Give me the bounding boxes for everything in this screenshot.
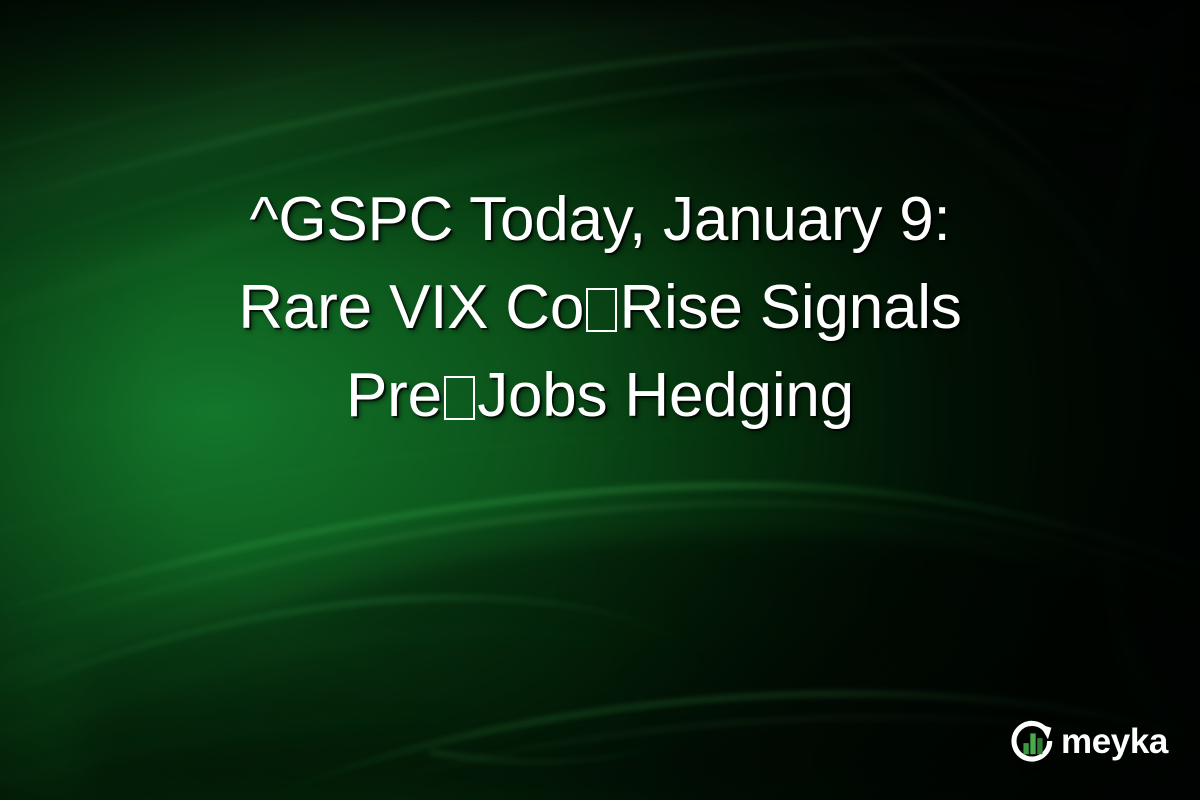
headline-line-3-after: Jobs Hedging [477, 361, 854, 430]
headline-line-2-before: Rare VIX Co [238, 273, 584, 342]
meyka-wordmark: meyka [1061, 724, 1168, 759]
headline-line-2-after: Rise Signals [619, 273, 961, 342]
headline-line-3-before: Pre [346, 361, 442, 430]
missing-glyph-box-icon [586, 288, 617, 331]
headline-block: ^GSPC Today, January 9: Rare VIX CoRise … [0, 176, 1200, 440]
headline-line-3: PreJobs Hedging [58, 352, 1142, 440]
headline-line-2: Rare VIX CoRise Signals [58, 264, 1142, 352]
share-card-canvas: ^GSPC Today, January 9: Rare VIX CoRise … [0, 0, 1200, 800]
headline-line-1-text: ^GSPC Today, January 9: [249, 185, 950, 254]
meyka-growth-ring-bars-icon [1010, 718, 1056, 764]
missing-glyph-box-icon [444, 376, 475, 419]
meyka-logo[interactable]: meyka [1010, 718, 1168, 764]
headline-line-1: ^GSPC Today, January 9: [58, 176, 1142, 264]
